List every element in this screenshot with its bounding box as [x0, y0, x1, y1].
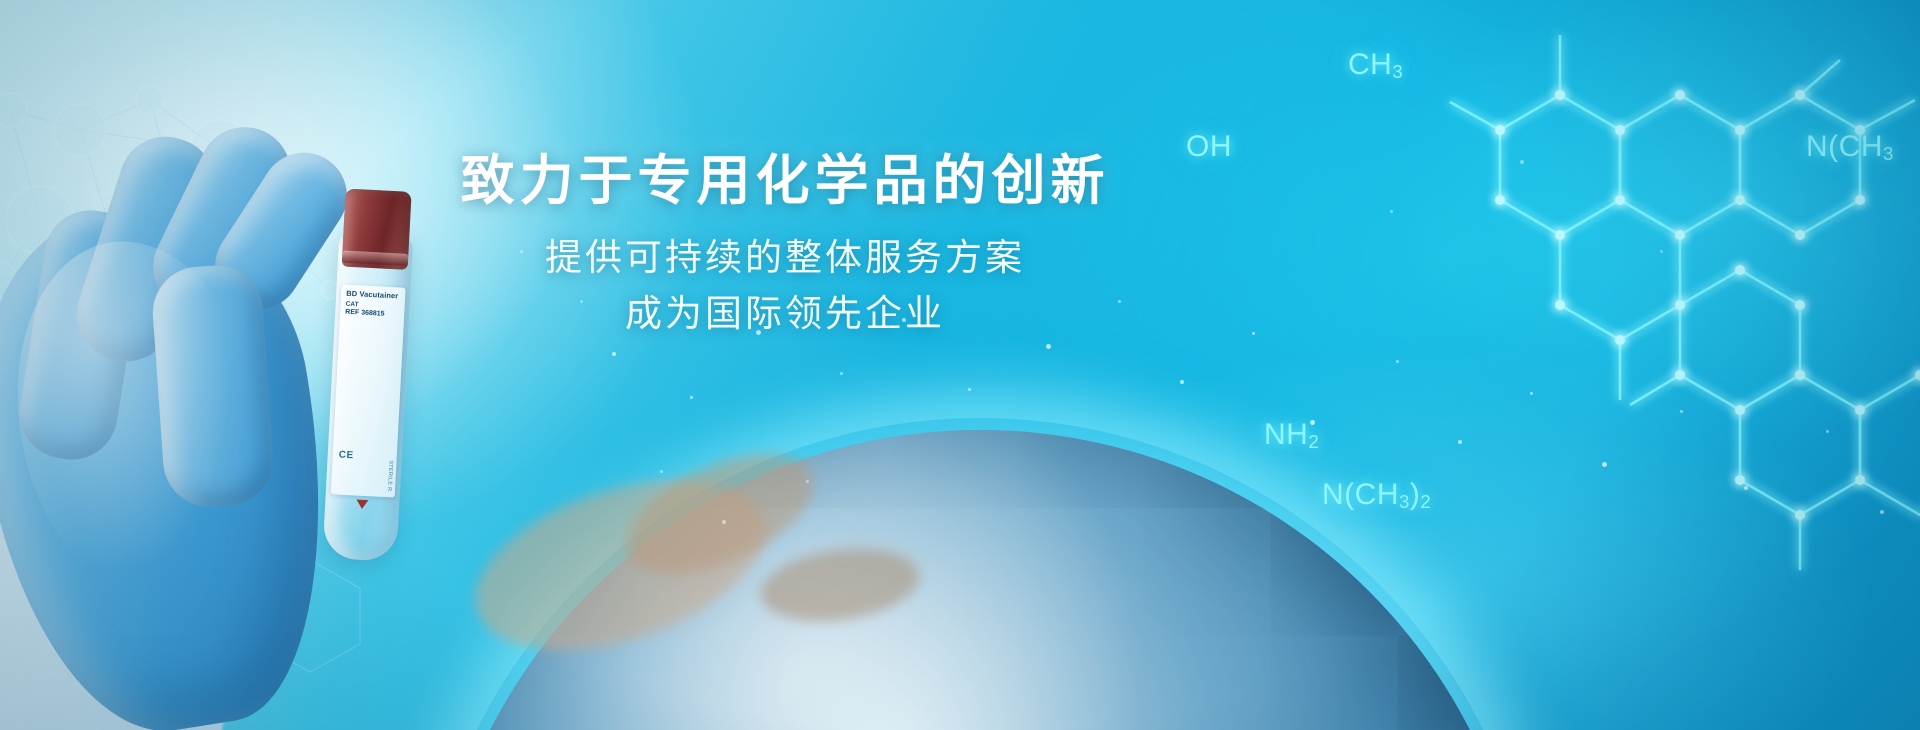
- hero-subtitle: 提供可持续的整体服务方案 成为国际领先企业: [0, 230, 1570, 341]
- vignette-overlay: [0, 0, 1920, 730]
- hero-copy: 致力于专用化学品的创新 提供可持续的整体服务方案 成为国际领先企业: [0, 150, 1570, 341]
- hero-subtitle-line-1: 提供可持续的整体服务方案: [0, 230, 1570, 286]
- hero-banner: BD Vacutainer CAT REF 368815 CE STERILE …: [0, 0, 1920, 730]
- page-title: 致力于专用化学品的创新: [0, 150, 1570, 212]
- hero-subtitle-line-2: 成为国际领先企业: [0, 286, 1570, 342]
